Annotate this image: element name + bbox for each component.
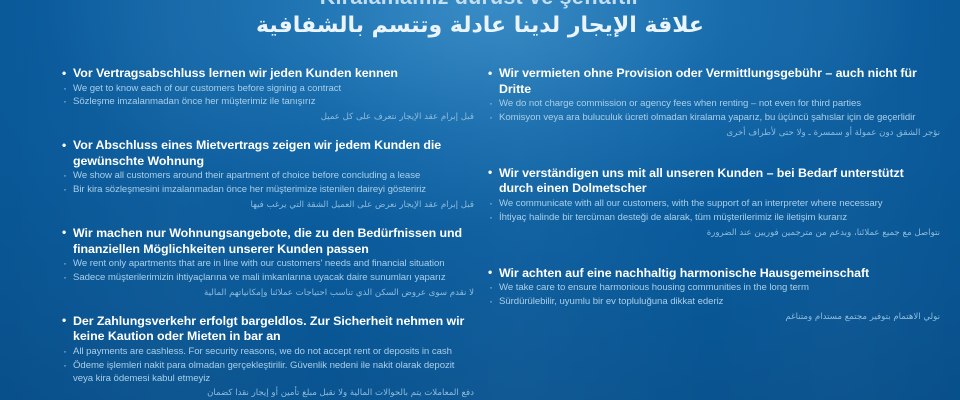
bullet-text-ar: لا نقدم سوى عروض السكن الذي تناسب احتياج… [62, 287, 474, 300]
bullet-text-en: We rent only apartments that are in line… [62, 258, 474, 271]
bullet-heading-de: Vor Vertragsabschluss lernen wir jeden K… [62, 66, 474, 82]
bullet-block: Wir verständigen uns mit all unseren Kun… [488, 166, 940, 240]
bullet-heading-de: Wir machen nur Wohnungsangebote, die zu … [62, 226, 474, 257]
bullet-text-en: We get to know each of our customers bef… [62, 83, 474, 96]
bullet-block: Wir vermieten ohne Provision oder Vermit… [488, 66, 940, 140]
bullet-text-ar: قبل إبرام عقد الإيجار نعرض على العميل ال… [62, 199, 474, 212]
bullet-text-tr: Bir kira sözleşmesini imzalanmadan önce … [62, 184, 474, 197]
bullet-text-ar: نولي الاهتمام بتوفير مجتمع مستدام ومتناغ… [488, 311, 940, 324]
slide-canvas: Kiralamamız dürüst ve şeffaftır علاقة ال… [0, 0, 960, 400]
bullet-text-tr: Komisyon veya ara buluculuk ücreti olmad… [488, 112, 940, 125]
bullet-text-tr: Ödeme işlemleri nakit para olmadan gerçe… [62, 360, 474, 386]
bullet-text-en: We take care to ensure harmonious housin… [488, 282, 940, 295]
bullet-heading-de: Der Zahlungsverkehr erfolgt bargeldlos. … [62, 314, 474, 345]
slide-title-arabic: علاقة الإيجار لدينا عادلة وتتسم بالشفافي… [0, 11, 960, 41]
bullet-heading-de: Vor Abschluss eines Mietvertrags zeigen … [62, 138, 474, 169]
bullet-text-tr: İhtiyaç halinde bir tercüman desteği de … [488, 212, 940, 225]
bullet-text-en: We show all customers around their apart… [62, 170, 474, 183]
bullet-text-ar: نؤجر الشقق دون عمولة أو سمسرة ـ ولا حتى … [488, 127, 940, 140]
bullet-heading-de: Wir achten auf eine nachhaltig harmonisc… [488, 266, 940, 282]
bullet-text-ar: نتواصل مع جميع عملائنا، وبدعم من مترجمين… [488, 227, 940, 240]
bullet-text-ar: قبل إبرام عقد الإيجار نتعرف على كل عميل [62, 111, 474, 124]
bullet-text-en: All payments are cashless. For security … [62, 346, 474, 359]
bullet-block: Vor Vertragsabschluss lernen wir jeden K… [62, 66, 474, 124]
bullet-column-left: Vor Vertragsabschluss lernen wir jeden K… [62, 66, 474, 400]
bullet-text-en: We do not charge commission or agency fe… [488, 98, 940, 111]
bullet-text-ar: دفع المعاملات يتم بالحوالات المالية ولا … [62, 387, 474, 400]
bullet-block: Wir machen nur Wohnungsangebote, die zu … [62, 226, 474, 300]
bullet-text-tr: Sözleşme imzalanmadan önce her müşterimi… [62, 96, 474, 109]
bullet-text-en: We communicate with all our customers, w… [488, 198, 940, 211]
bullet-block: Vor Abschluss eines Mietvertrags zeigen … [62, 138, 474, 212]
bullet-text-tr: Sadece müşterilerimizin ihtiyaçlarına ve… [62, 272, 474, 285]
bullet-block: Wir achten auf eine nachhaltig harmonisc… [488, 266, 940, 324]
bullet-block: Der Zahlungsverkehr erfolgt bargeldlos. … [62, 314, 474, 400]
slide-title-block: Kiralamamız dürüst ve şeffaftır علاقة ال… [0, 0, 960, 41]
bullet-heading-de: Wir vermieten ohne Provision oder Vermit… [488, 66, 940, 97]
slide-title-turkish: Kiralamamız dürüst ve şeffaftır [0, 0, 960, 10]
bullet-heading-de: Wir verständigen uns mit all unseren Kun… [488, 166, 940, 197]
bullet-column-right: Wir vermieten ohne Provision oder Vermit… [488, 66, 940, 336]
bullet-text-tr: Sürdürülebilir, uyumlu bir ev topluluğun… [488, 296, 940, 309]
